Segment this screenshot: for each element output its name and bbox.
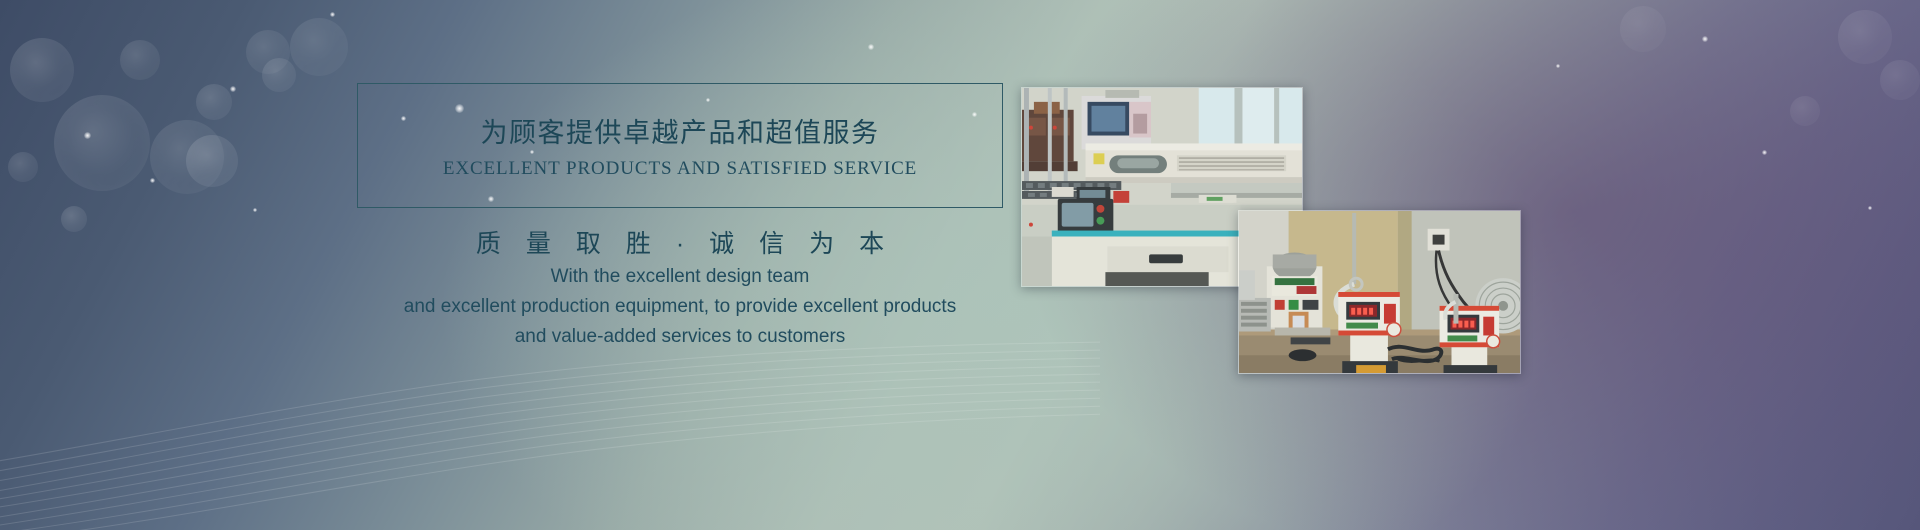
spark-dot (1702, 36, 1708, 42)
headline-frame: 为顾客提供卓越产品和超值服务 EXCELLENT PRODUCTS AND SA… (357, 83, 1003, 208)
photo-press-machines (1238, 210, 1521, 374)
hero-banner: 为顾客提供卓越产品和超值服务 EXCELLENT PRODUCTS AND SA… (0, 0, 1920, 530)
banner-text-block: 为顾客提供卓越产品和超值服务 EXCELLENT PRODUCTS AND SA… (0, 0, 1000, 530)
spark-dot (1556, 64, 1560, 68)
spark-dot (1762, 150, 1767, 155)
bokeh-circle (1790, 96, 1820, 126)
paragraph-line-2: and excellent production equipment, to p… (277, 292, 1083, 322)
bokeh-circle (1620, 6, 1666, 52)
banner-paragraph: With the excellent design team and excel… (277, 262, 1083, 352)
paragraph-line-3: and value-added services to customers (277, 322, 1083, 352)
headline-chinese: 为顾客提供卓越产品和超值服务 (358, 111, 1002, 150)
spark-dot (1868, 206, 1872, 210)
photo-press-machines-image (1239, 211, 1520, 373)
company-slogan: 质量取胜·诚信为本 (357, 224, 1003, 260)
bokeh-circle (1880, 60, 1920, 100)
bokeh-circle (1838, 10, 1892, 64)
paragraph-line-1: With the excellent design team (277, 262, 1083, 292)
headline-english: EXCELLENT PRODUCTS AND SATISFIED SERVICE (358, 158, 1002, 180)
